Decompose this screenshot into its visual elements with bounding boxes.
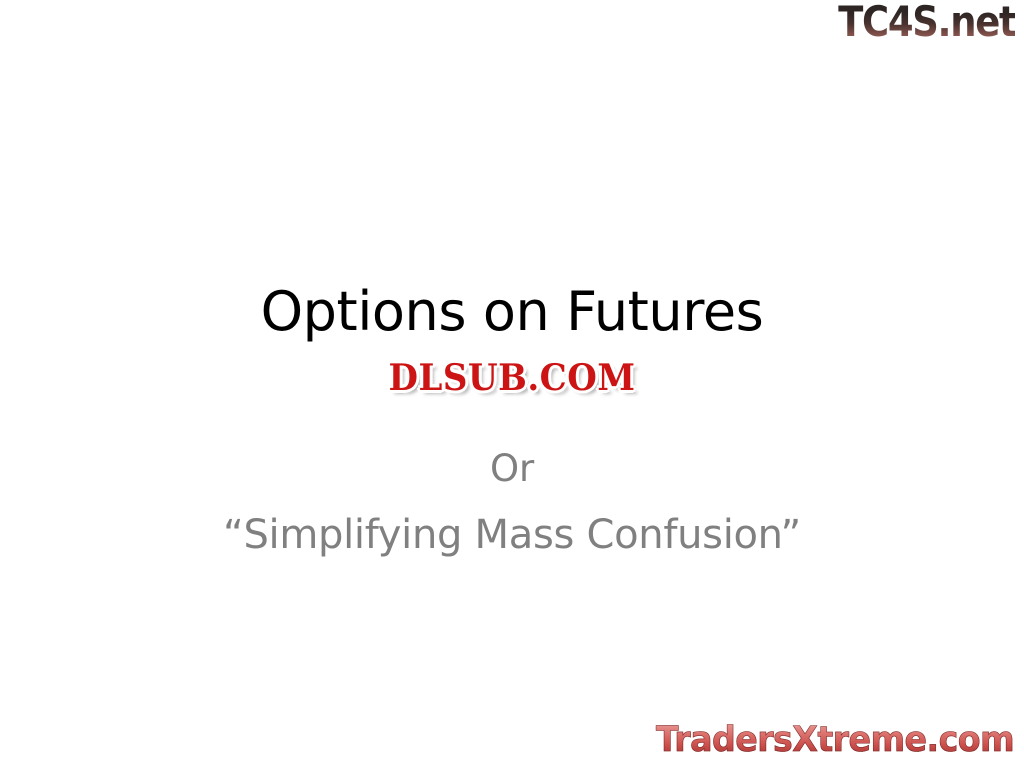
slide-title: Options on Futures xyxy=(0,283,1024,341)
title-block: Options on Futures xyxy=(0,283,1024,341)
tradersxtreme-logo-fill: TradersXtreme.com xyxy=(656,723,1014,758)
dlsub-logo-text: DLSUB.COM xyxy=(383,356,642,399)
subtitle-block: Or “Simplifying Mass Confusion” xyxy=(0,446,1024,561)
presentation-slide: TC4S.net Options on Futures DLSUB.COM Or… xyxy=(0,0,1024,768)
tradersxtreme-logo-watermark: TradersXtreme.comTradersXtreme.com xyxy=(637,723,1014,758)
tc4s-logo-watermark: TC4S.net xyxy=(814,1,1015,43)
tc4s-logo-text: TC4S.net xyxy=(838,1,1015,43)
tradersxtreme-logo-text: TradersXtreme.comTradersXtreme.com xyxy=(656,723,1014,758)
subtitle-line-quote: “Simplifying Mass Confusion” xyxy=(0,509,1024,561)
dlsub-logo-watermark: DLSUB.COM xyxy=(0,358,1024,398)
subtitle-line-or: Or xyxy=(0,446,1024,492)
